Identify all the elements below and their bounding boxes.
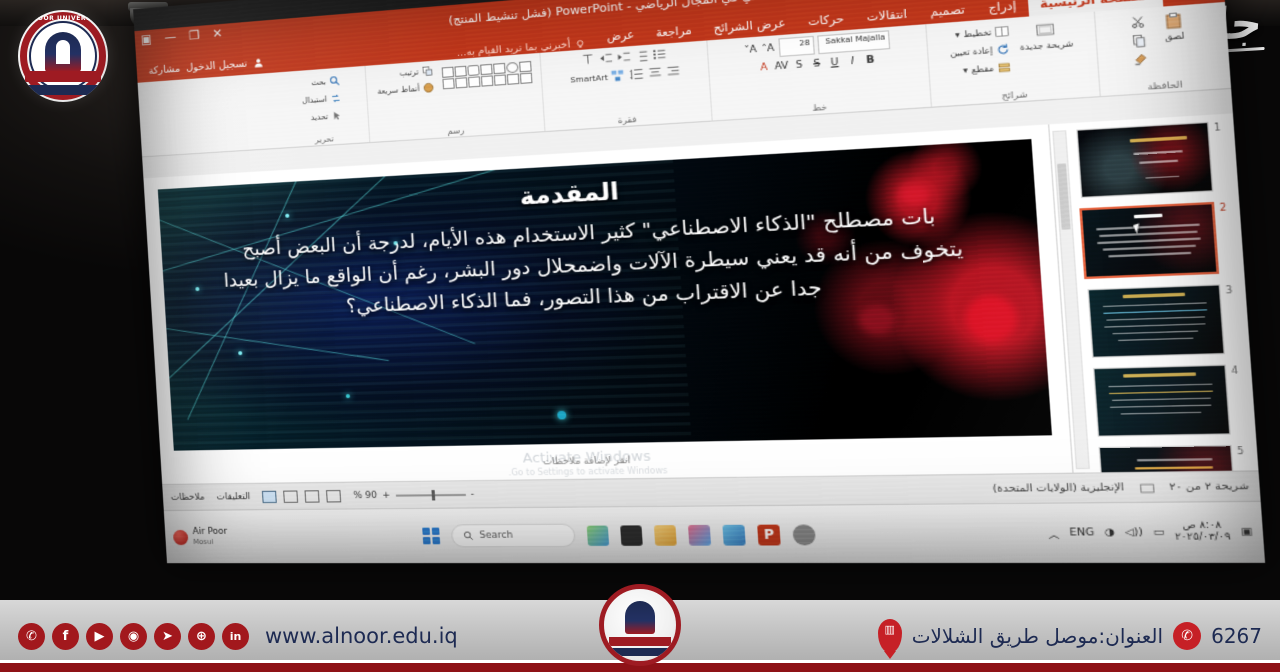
facebook-icon[interactable]: f [52,623,79,650]
youtube-icon[interactable]: ▶ [86,623,113,650]
zoom-slider[interactable] [395,494,465,497]
ribbon-group-editing: بحث استبدال تحديد تحرير [276,66,369,148]
ribbon-group-font: Sakkal Majalla 28 A˄ A˅ B I U S S AV A خ… [706,24,931,120]
numbering-icon[interactable]: 123 [633,48,649,63]
format-painter-button[interactable] [1130,50,1152,67]
paragraph-group-label: فقرة [545,110,712,130]
cut-button[interactable] [1127,13,1149,31]
powerpoint-window: ✕ ❐ — ▣ الذكاء الاصطناعي في المجال الريا… [134,0,1260,511]
footer-university-logo [599,584,681,666]
tray-chevron-icon[interactable]: ︿ [1048,526,1060,541]
search-icon [329,75,341,87]
increase-font-size-button[interactable]: A˄ [761,43,776,55]
volume-icon[interactable]: ◁)) [1124,527,1143,539]
smartart-button[interactable]: SmartArt [568,68,628,87]
branding-footer: ✆ f ▶ ◉ ➤ ⊕ in www.alnoor.edu.iq 6267 ✆ … [0,600,1280,672]
seal-text: ALNOOR UNIVERSITY [18,15,108,22]
arrange-button[interactable]: ترتيب [374,64,436,82]
zoom-in-button[interactable]: + [382,490,391,500]
start-button[interactable] [422,528,440,545]
section-label: مقطع [971,63,994,75]
ribbon-group-paragraph: 123 SmartArt فقرة [539,41,711,132]
new-slide-label: شريحة جديدة [1020,38,1074,52]
reset-button[interactable]: إعادة تعيين [947,42,1013,61]
thumbnail-slide-2[interactable]: 2 [1060,201,1236,280]
character-spacing-button[interactable]: AV [774,61,789,73]
align-right-icon[interactable] [666,64,682,79]
shape-circle[interactable] [506,62,519,73]
font-name-input[interactable]: Sakkal Majalla [817,30,890,54]
linkedin-icon[interactable]: in [222,623,249,650]
svg-text:3: 3 [633,58,634,63]
slide-thumbnails-pane[interactable]: 1 2 [1048,113,1259,473]
weather-label: Air Poor [192,527,227,537]
find-label: بحث [311,77,326,87]
system-tray[interactable]: ︿ ENG ◑ ◁)) ▭ ٨:٠٨ ص ٢٠٢٥/٠٣/٠٩ ▣ [1047,521,1253,544]
format-painter-icon [1133,52,1149,67]
view-buttons[interactable] [262,490,341,503]
windows-taskbar[interactable]: Air Poor Mosul Search P ︿ ENG ◑ ◁)) ▭ [164,501,1265,563]
select-button[interactable]: تحديد [301,109,345,125]
thumbnail-slide-5[interactable]: 5 [1077,445,1254,474]
copy-icon [1131,33,1147,48]
reset-icon [996,43,1011,56]
layout-button[interactable]: تخطيط▾ [946,24,1012,43]
section-button[interactable]: مقطع▾ [948,60,1014,79]
current-slide[interactable]: المقدمة بات مصطلح "الذكاء الاصطناعي" كثي… [158,139,1052,451]
paste-icon [1162,11,1184,31]
smartart-label: SmartArt [570,72,608,84]
layout-icon [995,25,1010,38]
zoom-level: 90 % [353,491,377,502]
battery-icon[interactable]: ▭ [1153,527,1165,539]
thumb-number: 1 [1214,121,1227,133]
font-group-label: خط [712,96,931,120]
ribbon-group-drawing: ترتيب أنماط سريعة رسم [364,53,544,142]
weather-sub: Mosul [193,538,214,546]
slide-sorter-icon[interactable] [283,490,298,502]
select-icon [331,110,343,122]
arrange-icon [421,65,433,77]
shape-round[interactable] [467,65,479,76]
search-input[interactable]: Search [451,524,576,548]
contact-info: 6267 ✆ العنوان:موصل طريق الشلالات ▥ [878,619,1262,653]
section-icon [997,61,1012,74]
zoom-out-button[interactable]: - [470,490,474,501]
instagram-icon[interactable]: ◉ [120,623,147,650]
select-label: تحديد [311,112,329,122]
shape-flow[interactable] [442,78,454,89]
shape-pent[interactable] [520,73,533,84]
file-explorer-icon[interactable] [620,525,643,546]
screen: ✕ ❐ — ▣ الذكاء الاصطناعي في المجال الريا… [133,0,1265,563]
italic-button[interactable]: I [845,56,860,68]
folder-icon[interactable] [654,525,677,546]
ribbon-group-slides: شريحة جديدة تخطيط▾ إعادة تعيين [925,12,1099,107]
comments-button[interactable]: التعليقات [216,492,250,502]
smartart-icon [611,69,625,83]
font-size-input[interactable]: 28 [778,36,815,57]
text-shadow-button[interactable]: S [792,60,807,72]
thumbnail-slide-4[interactable]: 4 [1071,364,1247,437]
replace-button[interactable]: استبدال [300,91,344,107]
thumb-number: 4 [1231,364,1244,376]
new-slide-button[interactable]: شريحة جديدة [1016,17,1077,55]
accessibility-icon[interactable] [1139,483,1154,494]
copy-button[interactable] [1129,32,1151,50]
shape-tri[interactable] [442,67,454,78]
address-text: العنوان:موصل طريق الشلالات [912,624,1163,648]
reset-label: إعادة تعيين [950,45,993,58]
new-slide-icon [1035,20,1056,40]
replace-icon [330,92,342,104]
clock-date: ٢٠٢٥/٠٣/٠٩ [1175,531,1231,543]
ribbon-group-clipboard: لصق الحافظة [1094,2,1231,96]
drawing-group-label: رسم [369,121,544,142]
powerpoint-icon[interactable]: P [757,524,781,545]
quick-styles-icon [422,82,434,94]
shape-cloud[interactable] [481,75,494,86]
thumb-number: 2 [1219,201,1232,213]
monitor: ✕ ❐ — ▣ الذكاء الاصطناعي في المجال الريا… [133,0,1265,563]
person-icon [253,57,264,68]
shape-banner[interactable] [455,77,467,88]
decrease-indent-icon[interactable] [615,49,630,64]
clock[interactable]: ٨:٠٨ ص ٢٠٢٥/٠٣/٠٩ [1174,521,1231,544]
slide-canvas[interactable]: المقدمة بات مصطلح "الذكاء الاصطناعي" كثي… [143,124,1072,485]
align-center-icon[interactable] [648,65,664,80]
bullets-icon[interactable] [651,47,667,62]
paste-label: لصق [1164,30,1184,42]
thumb-number: 3 [1225,284,1238,296]
replace-label: استبدال [302,94,328,105]
location-pin-icon: ▥ [878,619,902,653]
whatsapp-icon[interactable]: ✆ [18,623,45,650]
shape-star[interactable] [494,74,507,85]
work-area: 1 2 [143,113,1258,485]
lightbulb-icon [574,39,585,49]
air-quality-icon [173,529,189,544]
font-color-button[interactable]: A [757,62,772,74]
underline-button[interactable]: U [827,57,842,69]
phone-number: 6267 [1211,624,1262,648]
arrange-label: ترتيب [399,67,418,78]
clock-time: ٨:٠٨ ص [1182,520,1222,532]
layout-label: تخطيط [963,27,992,39]
search-placeholder: Search [479,530,513,541]
social-links[interactable]: ✆ f ▶ ◉ ➤ ⊕ in www.alnoor.edu.iq [18,623,458,650]
normal-view-icon[interactable] [262,491,277,503]
text-direction-icon[interactable] [580,52,595,67]
bold-button[interactable]: B [863,54,878,66]
language-indicator[interactable]: ENG [1069,527,1095,539]
shape-rect[interactable] [519,61,532,72]
quick-styles-button[interactable]: أنماط سريعة [375,80,437,98]
slide-counter: شريحة ٢ من ٢٠ [1169,481,1249,493]
signin-label[interactable]: تسجيل الدخول [186,58,248,74]
editing-group-label: تحرير [280,132,369,147]
strikethrough-button[interactable]: S [809,58,824,70]
shape-line[interactable] [454,66,466,77]
phone-icon: ✆ [1173,622,1201,650]
website-url[interactable]: www.alnoor.edu.iq [265,624,458,648]
clipboard-group-label: الحافظة [1100,76,1231,95]
shape-callout[interactable] [468,76,480,87]
language-indicator[interactable]: الإنجليزية (الولايات المتحدة) [992,482,1124,495]
fit-to-window-icon[interactable] [326,490,341,502]
thumbnail-slide-1[interactable]: 1 [1055,121,1231,199]
website-icon[interactable]: ⊕ [188,623,215,650]
widgets-icon[interactable] [587,525,609,545]
find-button[interactable]: بحث [299,74,343,90]
notes-placeholder: انقر لإضافة ملاحظات [542,456,631,468]
reading-view-icon[interactable] [305,490,320,502]
slide-title: المقدمة [519,178,620,211]
university-seal-logo: ALNOOR UNIVERSITY [18,10,108,102]
shape-hex[interactable] [507,73,520,84]
settings-icon[interactable] [792,524,816,545]
scrollbar-thumb[interactable] [1057,163,1070,229]
shapes-gallery[interactable] [442,61,533,89]
photos-icon[interactable] [723,524,746,545]
paste-button[interactable]: لصق [1153,8,1195,45]
shape-arrow[interactable] [480,64,493,75]
search-icon [463,531,474,542]
notes-button[interactable]: ملاحظات [171,493,205,503]
thumbnail-slide-3[interactable]: 3 [1066,284,1242,359]
wifi-icon[interactable]: ◑ [1104,527,1115,539]
scissors-icon [1130,15,1146,30]
thumb-number: 5 [1237,445,1250,457]
shape-rect2[interactable] [493,63,506,74]
decrease-font-size-button[interactable]: A˅ [743,44,758,56]
line-spacing-icon[interactable] [630,67,646,82]
slide-body: بات مصطلح "الذكاء الاصطناعي" كثير الاستخ… [215,199,973,327]
increase-indent-icon[interactable] [597,51,612,66]
quick-styles-label: أنماط سريعة [377,84,420,96]
weather-widget[interactable]: Air Poor Mosul [173,527,229,547]
share-button[interactable]: مشاركة [148,63,180,76]
zoom-control[interactable]: - + 90 % [353,490,475,502]
telegram-icon[interactable]: ➤ [154,623,181,650]
notifications-icon[interactable]: ▣ [1240,527,1252,539]
slides-group-label: شرائح [931,85,1099,106]
store-icon[interactable] [688,524,711,545]
